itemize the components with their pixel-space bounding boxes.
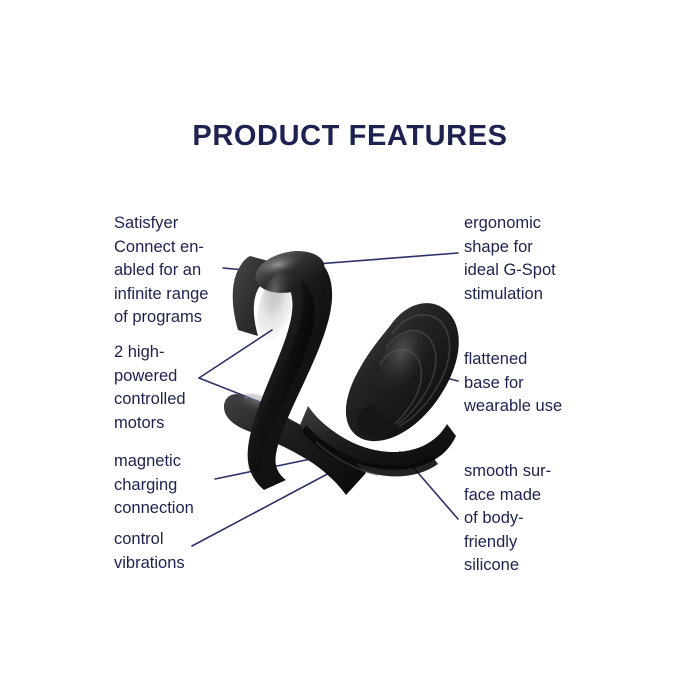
product-features-infographic: PRODUCT FEATURES [0,0,700,700]
product-body [224,245,459,495]
product-illustration [0,0,700,700]
